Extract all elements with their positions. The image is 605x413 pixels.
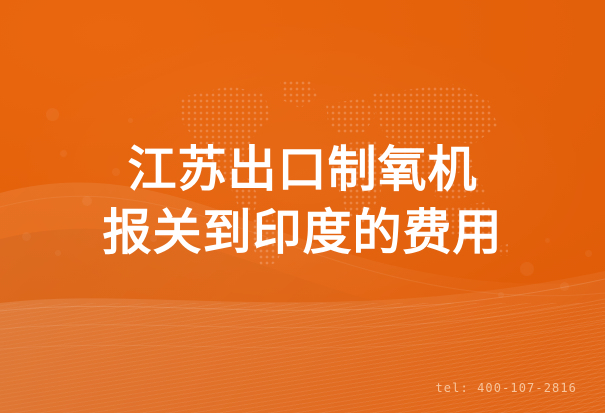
circle-bokeh-dot <box>46 108 59 121</box>
page-title: 江苏出口制氧机 报关到印度的费用 <box>0 138 605 264</box>
promo-banner: 江苏出口制氧机 报关到印度的费用 tel: 400-107-2816 <box>0 0 605 413</box>
headline-line-1: 江苏出口制氧机 <box>0 138 605 201</box>
circle-bokeh-dot <box>128 118 133 123</box>
headline-line-2: 报关到印度的费用 <box>0 201 605 264</box>
contact-phone-text: tel: 400-107-2816 <box>435 381 577 395</box>
